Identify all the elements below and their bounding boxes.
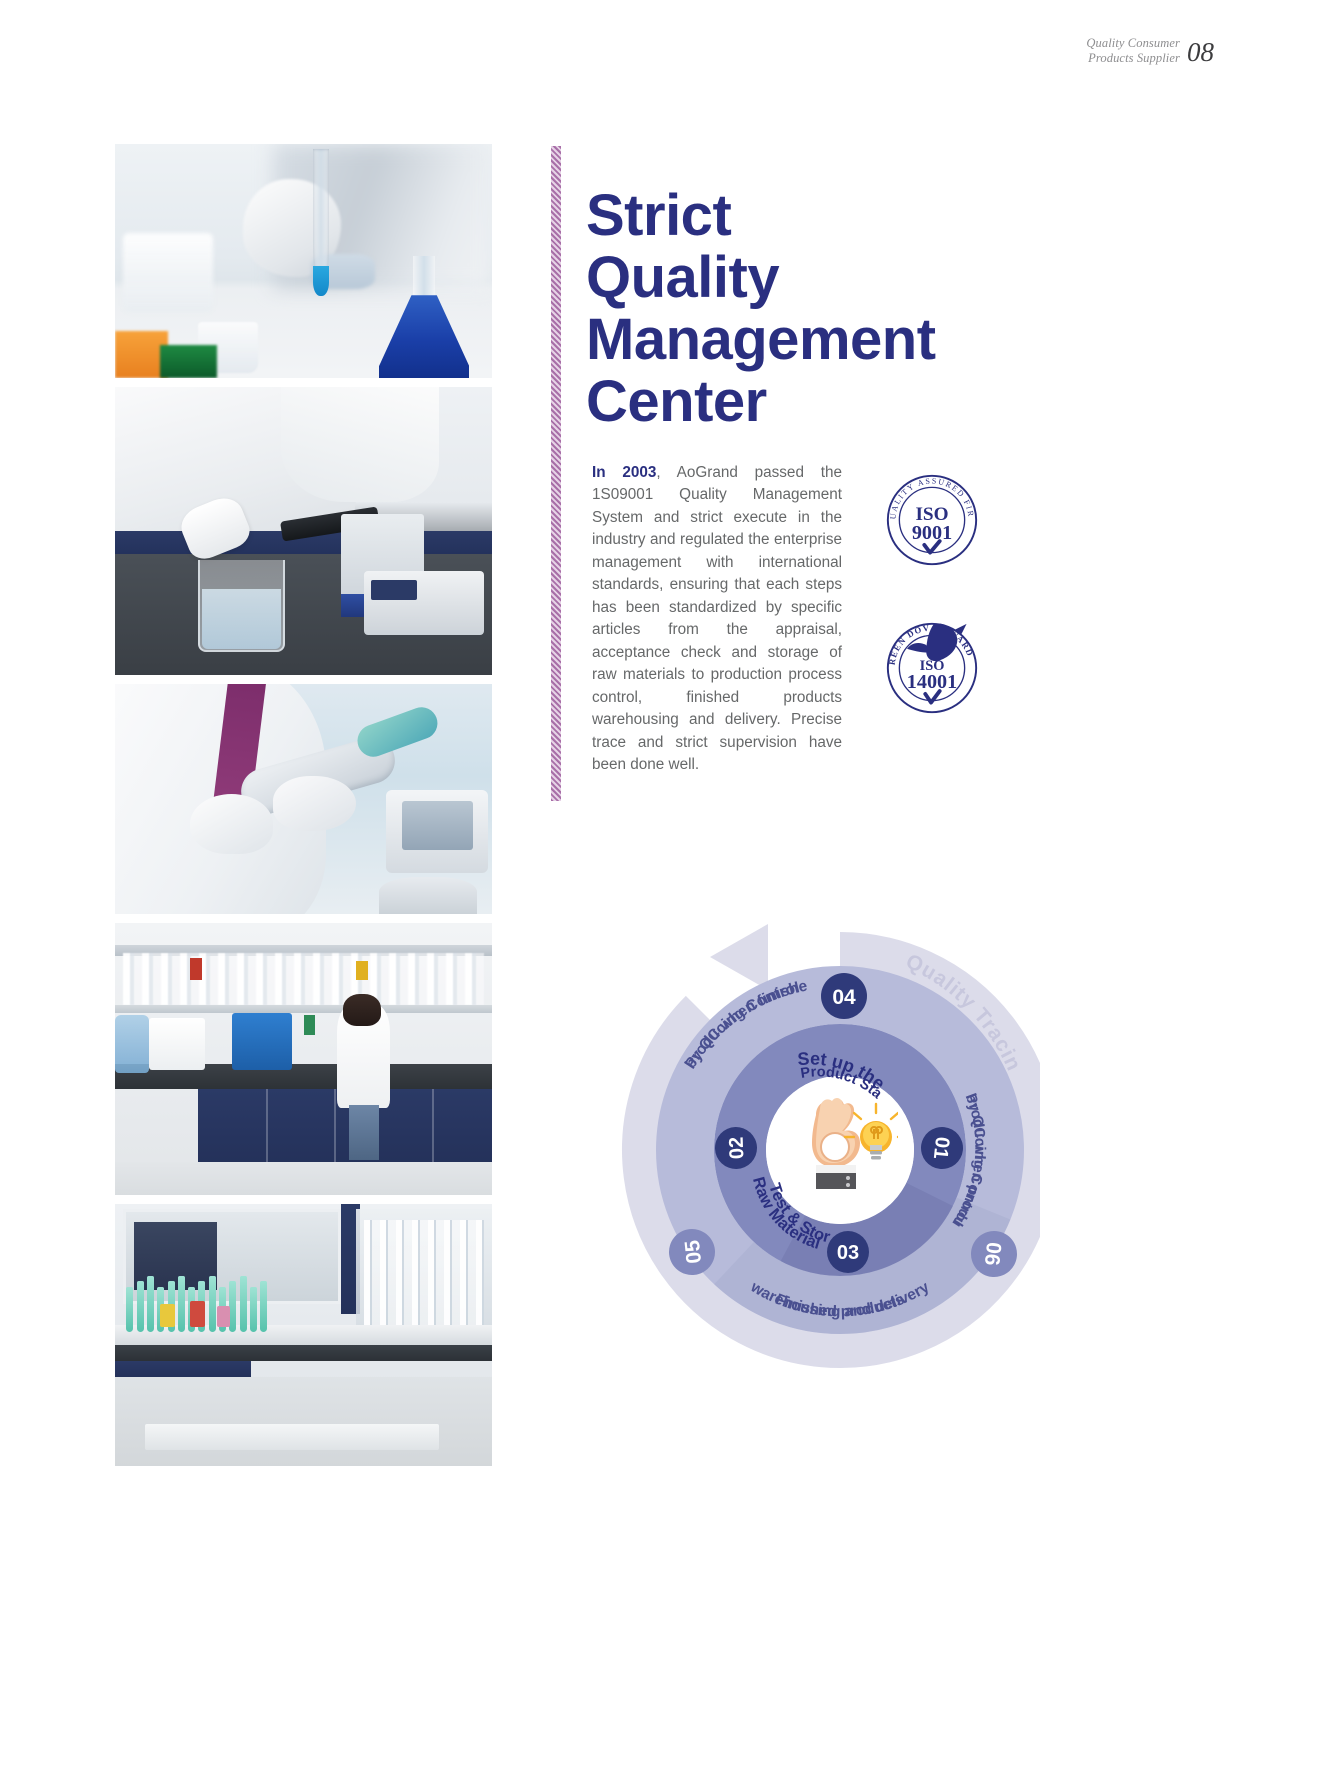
- body-lead-bold: In 2003: [592, 464, 656, 481]
- iso-9001-badge: QUALITY ASSURED FIRM ISO 9001 QUALITY AS…: [884, 472, 980, 568]
- title-line-4: Center: [586, 369, 767, 434]
- body-rest: , AoGrand passed the 1S09001 Quality Man…: [592, 464, 842, 773]
- ok-hand-lightbulb-icon: [786, 1085, 898, 1189]
- header-line-1: Quality Consumer: [1086, 36, 1180, 51]
- title-line-3: Management: [586, 307, 936, 372]
- diagram-step-04: 04: [821, 973, 867, 1019]
- svg-text:14001: 14001: [907, 671, 957, 693]
- quality-tracing-diagram: Quality Tracing System Producing Control…: [600, 900, 1040, 1370]
- header-supplier-text: Quality Consumer Products Supplier: [1086, 36, 1180, 66]
- page-root: Quality Consumer Products Supplier 08: [0, 0, 1324, 1782]
- accent-stripe-bar: [551, 146, 561, 801]
- diagram-step-03: 03: [827, 1231, 869, 1273]
- iso-14001-badge: GREEN DOVE AWARD ISO 14001 GREEN DOVE AW…: [884, 620, 980, 716]
- page-number: 08: [1187, 39, 1214, 66]
- photo-gallery: [115, 144, 492, 1466]
- photo-handheld-instrument: [115, 684, 492, 914]
- page-header: Quality Consumer Products Supplier 08: [1086, 36, 1214, 66]
- svg-text:03: 03: [837, 1242, 859, 1264]
- svg-text:05: 05: [681, 1239, 706, 1265]
- photo-test-tube-bench: [115, 1204, 492, 1466]
- svg-text:02: 02: [726, 1136, 749, 1159]
- svg-text:01: 01: [929, 1136, 953, 1160]
- certification-badges: QUALITY ASSURED FIRM ISO 9001 QUALITY AS…: [884, 472, 1034, 768]
- header-line-2: Products Supplier: [1086, 51, 1180, 66]
- photo-pipetting-blue-flask: [115, 144, 492, 378]
- title-line-2: Quality: [586, 245, 779, 310]
- title-line-1: Strict: [586, 183, 731, 248]
- photo-lab-room-chemicals: [115, 923, 492, 1195]
- page-title: Strict Quality Management Center: [586, 185, 1016, 433]
- svg-text:04: 04: [832, 986, 856, 1009]
- svg-text:06: 06: [980, 1241, 1005, 1267]
- photo-pouring-beaker-probe: [115, 387, 492, 675]
- svg-text:9001: 9001: [912, 522, 952, 544]
- body-paragraph: In 2003, AoGrand passed the 1S09001 Qual…: [592, 462, 842, 777]
